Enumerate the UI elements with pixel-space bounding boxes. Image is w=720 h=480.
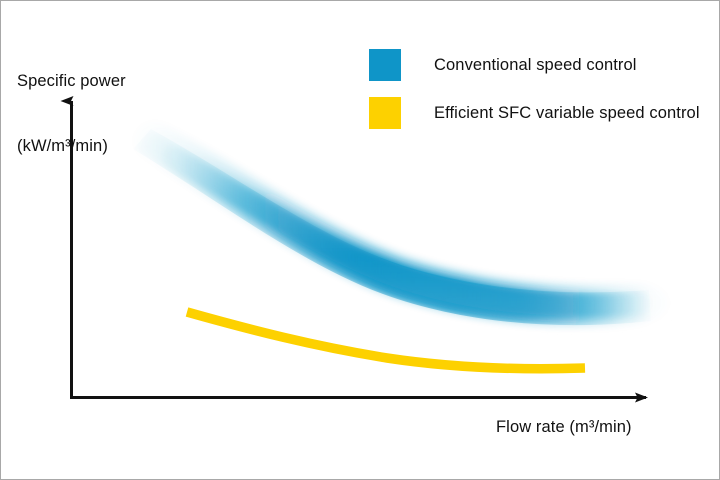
y-axis-label: Specific power (kW/m³/min) (17, 27, 126, 201)
legend-label-efficient-sfc-variable-speed-control: Efficient SFC variable speed control (434, 104, 700, 123)
chart-legend: Conventional speed control Efficient SFC… (369, 48, 700, 144)
y-axis-label-line2: (kW/m³/min) (17, 136, 126, 158)
y-axis-label-line1: Specific power (17, 71, 126, 93)
legend-item-efficient-sfc-variable-speed-control: Efficient SFC variable speed control (369, 96, 700, 130)
legend-label-conventional-speed-control: Conventional speed control (434, 56, 637, 75)
series-conventional-speed-control-band (133, 129, 651, 325)
legend-item-conventional-speed-control: Conventional speed control (369, 48, 700, 82)
legend-swatch-blue-square (369, 49, 401, 81)
x-axis-label: Flow rate (m³/min) (496, 417, 632, 439)
legend-swatch-yellow-square (369, 97, 401, 129)
chart-figure: Specific power (kW/m³/min) Flow rate (m³… (0, 0, 720, 480)
